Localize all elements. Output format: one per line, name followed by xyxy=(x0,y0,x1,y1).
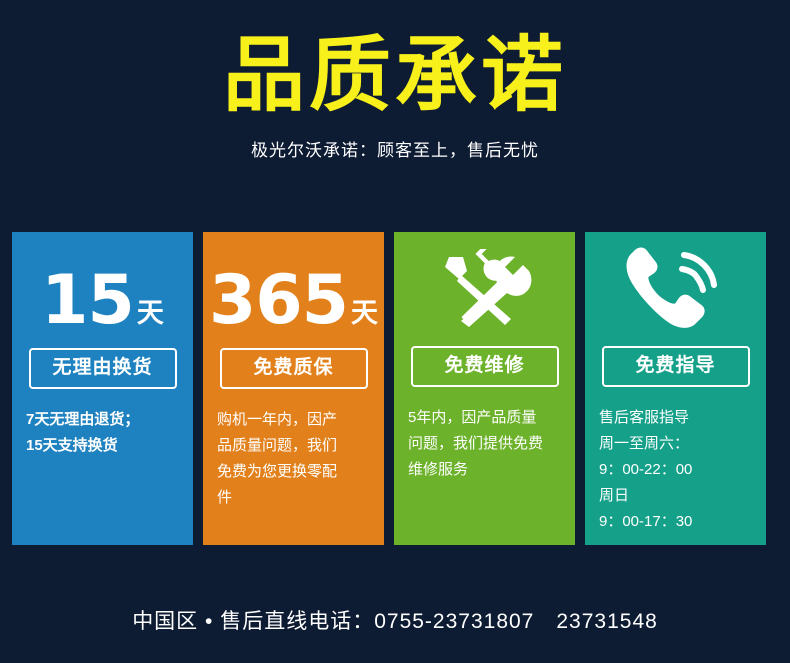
card-guidance-badge: 免费指导 xyxy=(602,346,750,387)
footer-phone-2: 23731548 xyxy=(556,610,657,633)
card-repair-desc-line: 问题，我们提供免费 xyxy=(408,431,561,457)
card-repair-badge: 免费维修 xyxy=(411,346,559,387)
card-warranty-desc-line: 品质量问题，我们 xyxy=(217,433,370,459)
card-guidance-desc-line: 9：00-22：00 xyxy=(599,457,752,483)
card-guidance-desc-line: 周一至周六： xyxy=(599,431,752,457)
promise-cards: 15 天 无理由换货 7天无理由退货； 15天支持换货 365 天 免费质保 购… xyxy=(12,232,778,545)
card-guidance-desc-line: 周日 xyxy=(599,483,752,509)
card-return-number: 15 xyxy=(41,268,134,334)
card-warranty-desc: 购机一年内，因产 品质量问题，我们 免费为您更换零配 件 xyxy=(217,407,370,511)
card-return-desc-line: 7天无理由退货； xyxy=(26,407,179,433)
card-guidance: 免费指导 售后客服指导 周一至周六： 9：00-22：00 周日 9：00-17… xyxy=(585,232,766,545)
card-return-badge: 无理由换货 xyxy=(29,348,177,389)
card-warranty-badge: 免费质保 xyxy=(220,348,368,389)
card-guidance-desc: 售后客服指导 周一至周六： 9：00-22：00 周日 9：00-17：30 xyxy=(599,405,752,535)
card-warranty-desc-line: 免费为您更换零配 xyxy=(217,459,370,485)
card-repair-icon-row xyxy=(408,248,561,334)
card-repair-desc-line: 维修服务 xyxy=(408,457,561,483)
card-return: 15 天 无理由换货 7天无理由退货； 15天支持换货 xyxy=(12,232,193,545)
card-return-desc-line: 15天支持换货 xyxy=(26,433,179,459)
footer-phone-1: 0755-23731807 xyxy=(374,610,534,633)
card-warranty-unit: 天 xyxy=(351,296,378,334)
card-return-unit: 天 xyxy=(137,296,164,334)
card-repair-desc-line: 5年内，因产品质量 xyxy=(408,405,561,431)
tools-icon xyxy=(437,249,533,334)
phone-ringing-icon xyxy=(626,247,726,336)
card-return-number-row: 15 天 xyxy=(26,248,179,336)
card-guidance-desc-line: 9：00-17：30 xyxy=(599,509,752,535)
card-warranty: 365 天 免费质保 购机一年内，因产 品质量问题，我们 免费为您更换零配 件 xyxy=(203,232,384,545)
card-repair: 免费维修 5年内，因产品质量 问题，我们提供免费 维修服务 xyxy=(394,232,575,545)
page-subtitle: 极光尔沃承诺：顾客至上，售后无忧 xyxy=(0,136,790,161)
card-warranty-number-row: 365 天 xyxy=(217,248,370,336)
footer: 中国区 • 售后直线电话：0755-2373180723731548 xyxy=(0,605,790,635)
card-warranty-desc-line: 购机一年内，因产 xyxy=(217,407,370,433)
page-title: 品质承诺 xyxy=(0,30,790,122)
card-warranty-desc-line: 件 xyxy=(217,485,370,511)
card-guidance-desc-line: 售后客服指导 xyxy=(599,405,752,431)
card-guidance-icon-row xyxy=(599,248,752,334)
card-repair-desc: 5年内，因产品质量 问题，我们提供免费 维修服务 xyxy=(408,405,561,483)
header: 品质承诺 极光尔沃承诺：顾客至上，售后无忧 xyxy=(0,0,790,161)
promo-page: 品质承诺 极光尔沃承诺：顾客至上，售后无忧 15 天 无理由换货 7天无理由退货… xyxy=(0,0,790,663)
card-return-desc: 7天无理由退货； 15天支持换货 xyxy=(26,407,179,459)
card-warranty-number: 365 xyxy=(209,268,348,334)
footer-label: 中国区 • 售后直线电话： xyxy=(132,610,374,633)
